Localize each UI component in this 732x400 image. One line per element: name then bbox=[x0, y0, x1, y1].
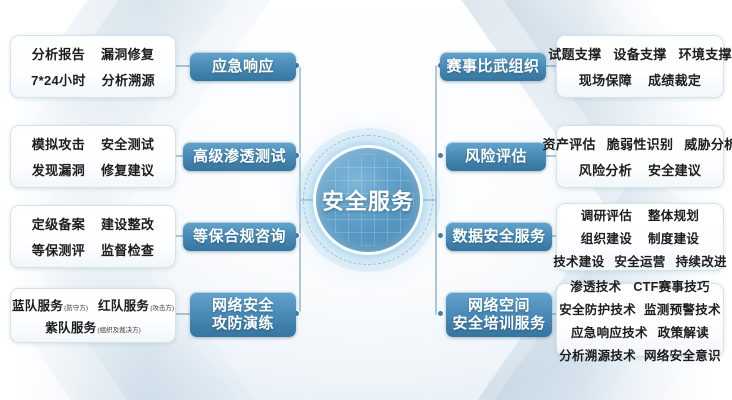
pill-label-line: 安全培训服务 bbox=[453, 315, 546, 333]
card-item: 7*24小时 bbox=[31, 70, 86, 89]
card-item: 监督检查 bbox=[101, 240, 154, 259]
card-row: 调研评估 整体规划 bbox=[581, 205, 699, 224]
card-item: 试题支撑 bbox=[548, 44, 601, 63]
card-item-text: 紫队服务 bbox=[45, 321, 96, 335]
card-item: 现场保障 bbox=[579, 70, 632, 89]
pill-label-line: 网络空间 bbox=[468, 297, 530, 315]
card-row: 分析报告 漏洞修复 bbox=[32, 44, 154, 63]
card-row: 资产评估 脆弱性识别 威胁分析 bbox=[543, 134, 732, 153]
card-item: CTF赛事技巧 bbox=[633, 276, 709, 295]
card-item: 制度建设 bbox=[648, 228, 699, 247]
card-item: 组织建设 bbox=[581, 228, 632, 247]
center-hub-label: 安全服务 bbox=[322, 184, 414, 216]
pill-label-line: 高级渗透测试 bbox=[193, 148, 286, 166]
card-item: 安全测试 bbox=[101, 134, 154, 153]
branch-card-advanced-penetration-testing: 模拟攻击 安全测试 发现漏洞 修复建议 bbox=[10, 125, 176, 188]
branch-card-cyberspace-security-training: 渗透技术 CTF赛事技巧 安全防护技术 监测预警技术 应急响应技术 政策解读 分… bbox=[556, 283, 724, 357]
card-item: 持续改进 bbox=[676, 251, 727, 270]
card-row: 技术建设 安全运营 持续改进 bbox=[553, 251, 727, 270]
branch-card-risk-assessment: 资产评估 脆弱性识别 威胁分析 风险分析 安全建议 bbox=[556, 125, 724, 188]
card-item: 安全防护技术 bbox=[559, 299, 636, 318]
card-row: 渗透技术 CTF赛事技巧 bbox=[570, 276, 710, 295]
pill-label-line: 应急响应 bbox=[212, 58, 274, 76]
card-row: 应急响应技术 政策解读 bbox=[571, 322, 709, 341]
card-item: 设备支撑 bbox=[613, 44, 666, 63]
branch-pill-cyber-attack-defense-drill[interactable]: 网络安全 攻防演练 bbox=[190, 292, 296, 337]
card-item: 建设整改 bbox=[101, 214, 154, 233]
branch-pill-risk-assessment[interactable]: 风险评估 bbox=[446, 142, 546, 171]
connector-dot bbox=[438, 153, 443, 158]
card-item: 定级备案 bbox=[32, 214, 85, 233]
branch-pill-data-security-service[interactable]: 数据安全服务 bbox=[446, 222, 552, 251]
card-item-note: (防守方) bbox=[64, 305, 88, 312]
card-item: 风险分析 bbox=[579, 160, 632, 179]
pill-label-line: 等保合规咨询 bbox=[193, 228, 286, 246]
card-item: 发现漏洞 bbox=[32, 160, 85, 179]
card-item: 分析溯源技术 bbox=[559, 345, 636, 364]
card-row: 等保测评 监督检查 bbox=[32, 240, 154, 259]
card-row: 分析溯源技术 网络安全意识 bbox=[559, 345, 721, 364]
security-services-mindmap: 安全服务 应急响应 分析报告 漏洞修复 7*24小时 分析溯源 高级渗透测试 模… bbox=[0, 0, 732, 400]
card-row: 定级备案 建设整改 bbox=[32, 214, 154, 233]
card-row: 紫队服务(组织及裁决方) bbox=[45, 317, 141, 336]
branch-card-competition-organization: 试题支撑 设备支撑 环境支撑 现场保障 成绩裁定 bbox=[556, 35, 724, 98]
card-row: 7*24小时 分析溯源 bbox=[31, 70, 155, 89]
branch-pill-advanced-penetration-testing[interactable]: 高级渗透测试 bbox=[183, 142, 296, 171]
card-item: 监测预警技术 bbox=[644, 299, 721, 318]
card-row: 模拟攻击 安全测试 bbox=[32, 134, 154, 153]
card-row: 风险分析 安全建议 bbox=[579, 160, 701, 179]
card-item: 红队服务(攻击方) bbox=[98, 295, 174, 314]
card-item: 政策解读 bbox=[658, 322, 709, 341]
card-item-text: 红队服务 bbox=[98, 299, 149, 313]
card-item: 安全运营 bbox=[614, 251, 665, 270]
card-item: 分析报告 bbox=[32, 44, 85, 63]
card-item: 等保测评 bbox=[32, 240, 85, 259]
card-row: 试题支撑 设备支撑 环境支撑 bbox=[548, 44, 732, 63]
card-item-note: (组织及裁决方) bbox=[97, 327, 140, 334]
card-row: 蓝队服务(防守方) 红队服务(攻击方) bbox=[12, 295, 174, 314]
card-item: 成绩裁定 bbox=[648, 70, 701, 89]
card-item: 威胁分析 bbox=[684, 134, 732, 153]
card-row: 组织建设 制度建设 bbox=[581, 228, 699, 247]
branch-card-cyber-attack-defense-drill: 蓝队服务(防守方) 红队服务(攻击方) 紫队服务(组织及裁决方) bbox=[10, 288, 176, 343]
pill-label-line: 数据安全服务 bbox=[453, 228, 546, 246]
center-hub[interactable]: 安全服务 bbox=[316, 148, 420, 252]
branch-pill-emergency-response[interactable]: 应急响应 bbox=[190, 52, 296, 81]
card-item: 脆弱性识别 bbox=[607, 134, 674, 153]
card-item: 分析溯源 bbox=[102, 70, 155, 89]
pill-label-line: 风险评估 bbox=[465, 148, 527, 166]
card-item: 调研评估 bbox=[581, 205, 632, 224]
branch-pill-mlps-compliance-consulting[interactable]: 等保合规咨询 bbox=[183, 222, 296, 251]
card-item-note: (攻击方) bbox=[150, 305, 174, 312]
card-row: 安全防护技术 监测预警技术 bbox=[559, 299, 721, 318]
pill-label-line: 攻防演练 bbox=[212, 315, 274, 333]
card-item: 网络安全意识 bbox=[644, 345, 721, 364]
card-item: 技术建设 bbox=[553, 251, 604, 270]
card-item: 环境支撑 bbox=[679, 44, 732, 63]
card-item: 漏洞修复 bbox=[101, 44, 154, 63]
card-item: 整体规划 bbox=[648, 205, 699, 224]
branch-card-data-security-service: 调研评估 整体规划 组织建设 制度建设 技术建设 安全运营 持续改进 bbox=[556, 203, 724, 271]
connector-dot bbox=[438, 233, 443, 238]
card-item: 修复建议 bbox=[101, 160, 154, 179]
branch-card-emergency-response: 分析报告 漏洞修复 7*24小时 分析溯源 bbox=[10, 35, 176, 98]
card-item: 模拟攻击 bbox=[32, 134, 85, 153]
card-item-text: 蓝队服务 bbox=[12, 299, 63, 313]
card-item: 渗透技术 bbox=[570, 276, 621, 295]
card-item: 安全建议 bbox=[648, 160, 701, 179]
card-item: 应急响应技术 bbox=[571, 322, 648, 341]
branch-card-mlps-compliance-consulting: 定级备案 建设整改 等保测评 监督检查 bbox=[10, 205, 176, 268]
card-item: 资产评估 bbox=[543, 134, 596, 153]
card-item: 蓝队服务(防守方) bbox=[12, 295, 88, 314]
branch-pill-cyberspace-security-training[interactable]: 网络空间 安全培训服务 bbox=[446, 292, 552, 337]
pill-label-line: 赛事比武组织 bbox=[447, 58, 540, 76]
card-item: 紫队服务(组织及裁决方) bbox=[45, 317, 141, 336]
pill-label-line: 网络安全 bbox=[212, 297, 274, 315]
branch-pill-competition-organization[interactable]: 赛事比武组织 bbox=[440, 52, 546, 81]
card-row: 发现漏洞 修复建议 bbox=[32, 160, 154, 179]
connector-dot bbox=[438, 311, 443, 316]
card-row: 现场保障 成绩裁定 bbox=[579, 70, 701, 89]
